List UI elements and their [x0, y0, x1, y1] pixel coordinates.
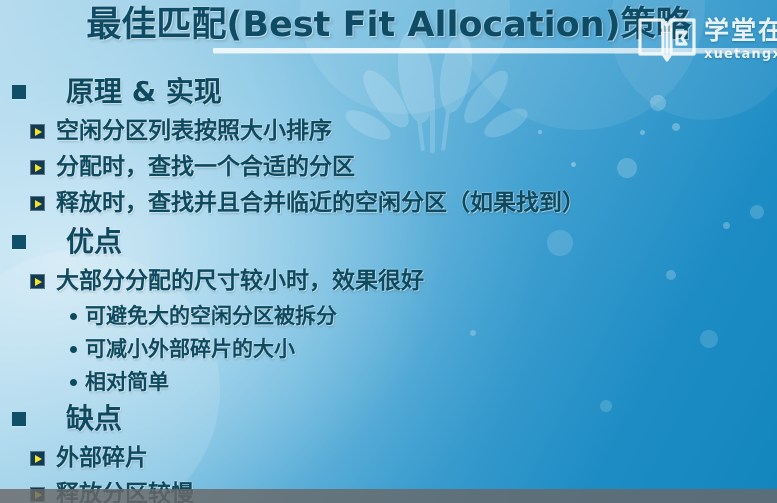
- list-item: 可避免大的空闲分区被拆分: [0, 300, 777, 333]
- list-item: 相对简单: [0, 366, 777, 399]
- page-title: 最佳匹配(Best Fit Allocation)策略: [0, 0, 777, 47]
- list-item: 原理 & 实现: [0, 72, 777, 112]
- list-item-label: 相对简单: [85, 366, 169, 399]
- square-bullet-icon: [12, 412, 26, 426]
- list-item-label: 空闲分区列表按照大小排序: [56, 114, 332, 149]
- outline-list: 原理 & 实现 空闲分区列表按照大小排序 分配时，查找一个合适的分区 释放时，查…: [0, 72, 777, 503]
- list-item: 优点: [0, 222, 777, 262]
- list-item: 释放时，查找并且合并临近的空闲分区（如果找到）: [0, 186, 777, 221]
- list-item-label: 可减小外部碎片的大小: [85, 333, 295, 366]
- triangle-bullet-icon: [30, 451, 45, 466]
- list-item-label: 缺点: [66, 399, 122, 439]
- dot-bullet-icon: [70, 313, 77, 320]
- list-item-label: 原理 & 实现: [66, 72, 222, 112]
- list-item-label: 外部碎片: [56, 441, 148, 476]
- list-item-label: 释放时，查找并且合并临近的空闲分区（如果找到）: [56, 186, 585, 221]
- dot-bullet-icon: [70, 346, 77, 353]
- dot-bullet-icon: [70, 379, 77, 386]
- square-bullet-icon: [12, 235, 26, 249]
- title-divider: [213, 48, 777, 53]
- player-control-bar[interactable]: [0, 489, 777, 503]
- square-bullet-icon: [12, 85, 26, 99]
- list-item: 可减小外部碎片的大小: [0, 333, 777, 366]
- triangle-bullet-icon: [30, 124, 45, 139]
- triangle-bullet-icon: [30, 196, 45, 211]
- triangle-bullet-icon: [30, 274, 45, 289]
- list-item-label: 分配时，查找一个合适的分区: [56, 150, 355, 185]
- list-item: 大部分分配的尺寸较小时，效果很好: [0, 264, 777, 299]
- list-item: 空闲分区列表按照大小排序: [0, 114, 777, 149]
- list-item: 缺点: [0, 399, 777, 439]
- list-item-label: 大部分分配的尺寸较小时，效果很好: [56, 264, 424, 299]
- slide-canvas: 最佳匹配(Best Fit Allocation)策略 学堂在 xuetangx…: [0, 0, 777, 503]
- list-item: 分配时，查找一个合适的分区: [0, 150, 777, 185]
- list-item: 外部碎片: [0, 441, 777, 476]
- list-item-label: 可避免大的空闲分区被拆分: [85, 300, 337, 333]
- triangle-bullet-icon: [30, 160, 45, 175]
- list-item-label: 优点: [66, 222, 122, 262]
